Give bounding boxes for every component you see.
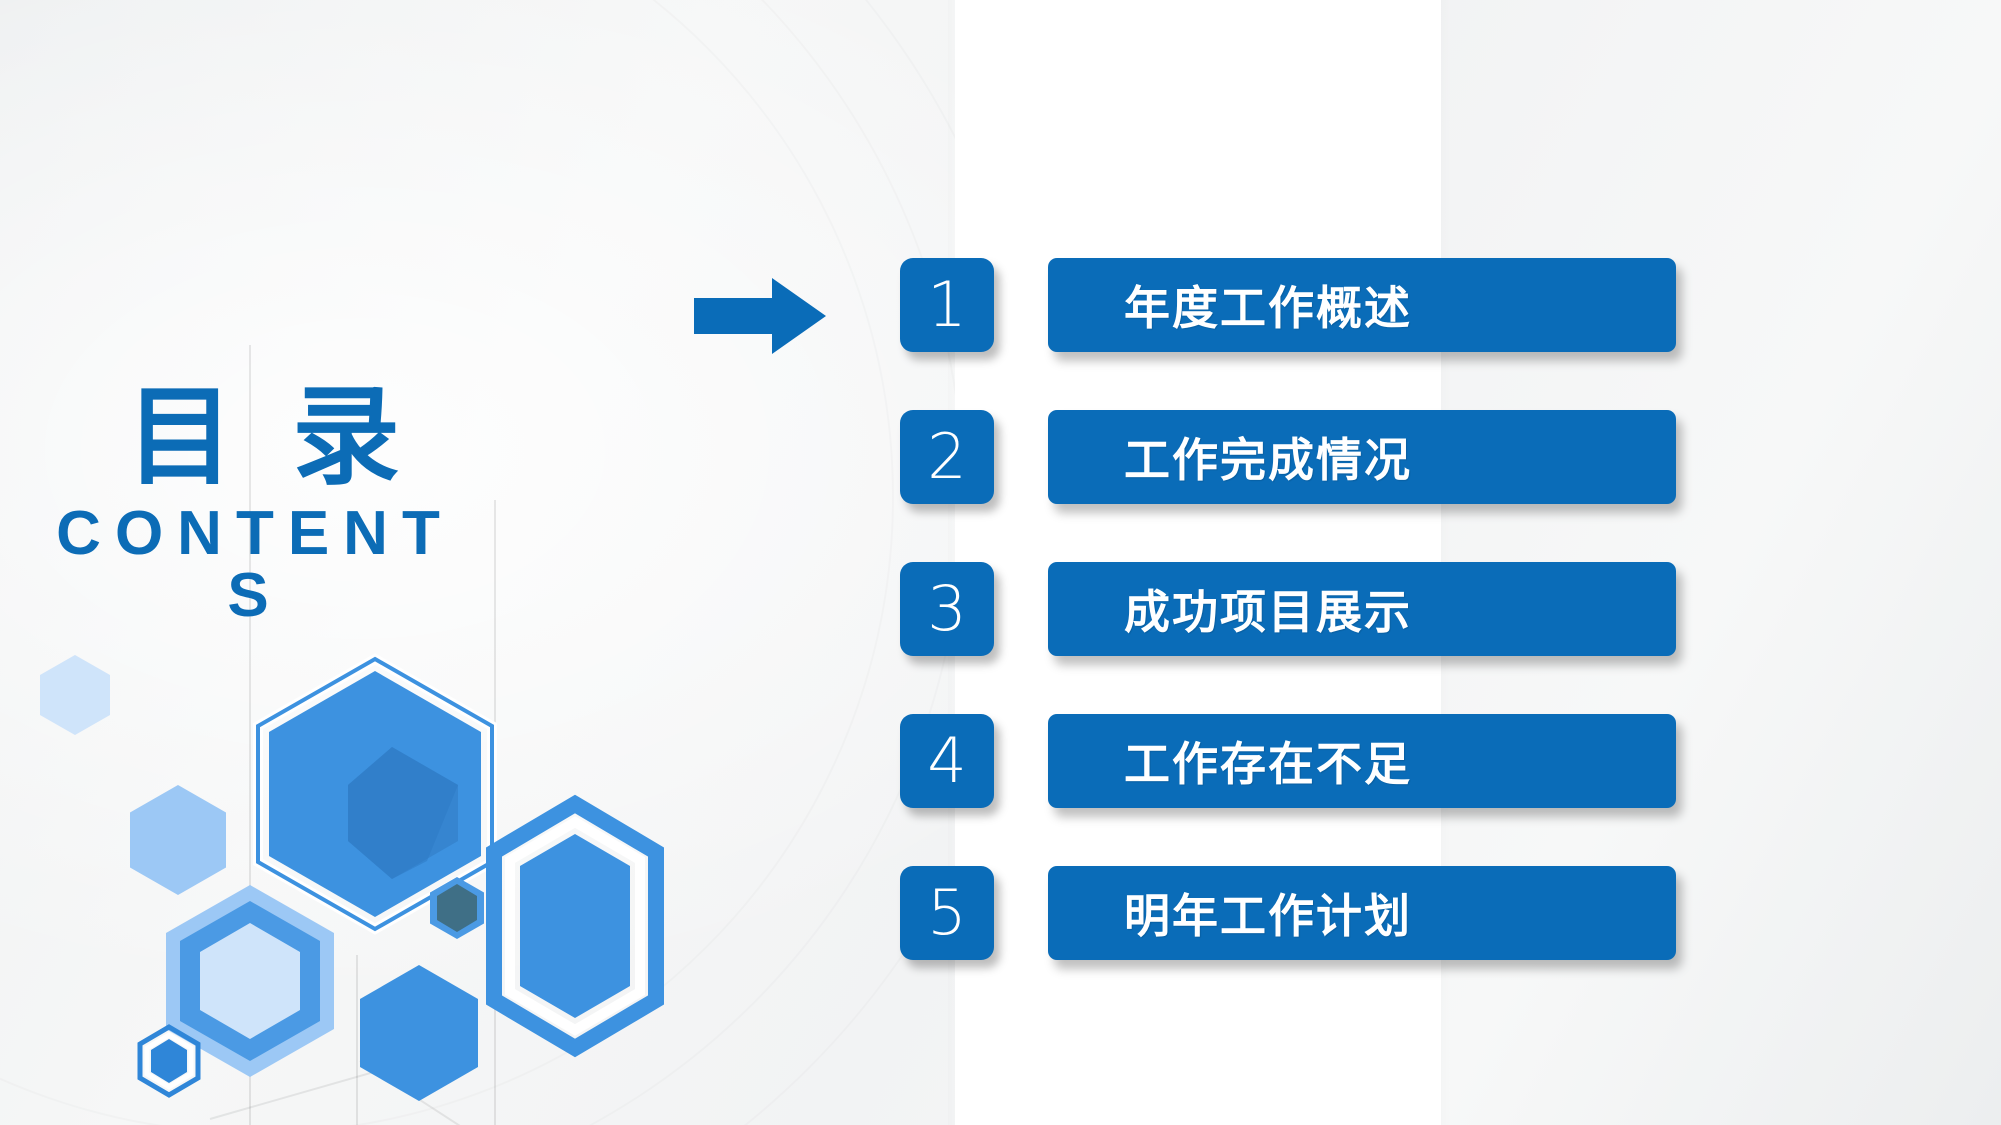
menu-label-bar[interactable]: 工作完成情况 <box>1048 410 1676 504</box>
menu-number: 2 <box>927 426 966 488</box>
menu-number: 4 <box>927 730 966 792</box>
page-subtitle: CONTENTS <box>55 503 455 627</box>
menu-label: 工作完成情况 <box>1124 424 1412 490</box>
menu-number-badge[interactable]: 2 <box>900 410 994 504</box>
menu-number: 5 <box>927 882 966 944</box>
hex-medium-light <box>130 785 226 895</box>
menu-label: 明年工作计划 <box>1124 880 1412 946</box>
menu-number: 3 <box>927 578 966 640</box>
guide-line <box>356 955 358 1125</box>
menu-number-badge[interactable]: 5 <box>900 866 994 960</box>
menu-number-badge[interactable]: 4 <box>900 714 994 808</box>
menu-label-bar[interactable]: 年度工作概述 <box>1048 258 1676 352</box>
menu-label: 年度工作概述 <box>1124 272 1412 338</box>
page-title: 目 录 <box>40 380 500 493</box>
menu-number-badge[interactable]: 3 <box>900 562 994 656</box>
menu-item-3[interactable]: 3 成功项目展示 <box>900 562 1700 666</box>
title-block: 目 录 CONTENTS <box>0 380 500 627</box>
hex-tiny-dark <box>430 877 484 939</box>
hex-outlined-right <box>490 800 660 1052</box>
menu-label-bar[interactable]: 工作存在不足 <box>1048 714 1676 808</box>
menu-number: 1 <box>927 274 966 336</box>
slide-canvas: 目 录 CONTENTS <box>0 0 2001 1125</box>
hex-small-pale-top <box>40 655 110 735</box>
right-arrow-icon <box>694 278 826 354</box>
menu-label-bar[interactable]: 明年工作计划 <box>1048 866 1676 960</box>
menu-label: 成功项目展示 <box>1124 576 1412 642</box>
menu-number-badge[interactable]: 1 <box>900 258 994 352</box>
menu-item-1[interactable]: 1 年度工作概述 <box>900 258 1700 362</box>
contents-menu: 1 年度工作概述 2 工作完成情况 3 成功项目展示 4 <box>900 258 1700 970</box>
menu-item-2[interactable]: 2 工作完成情况 <box>900 410 1700 514</box>
hex-tiny-ringed-bottom <box>138 1025 200 1097</box>
hex-solid-bottom <box>360 965 478 1101</box>
menu-label: 工作存在不足 <box>1124 728 1412 794</box>
menu-label-bar[interactable]: 成功项目展示 <box>1048 562 1676 656</box>
menu-item-4[interactable]: 4 工作存在不足 <box>900 714 1700 818</box>
menu-item-5[interactable]: 5 明年工作计划 <box>900 866 1700 970</box>
